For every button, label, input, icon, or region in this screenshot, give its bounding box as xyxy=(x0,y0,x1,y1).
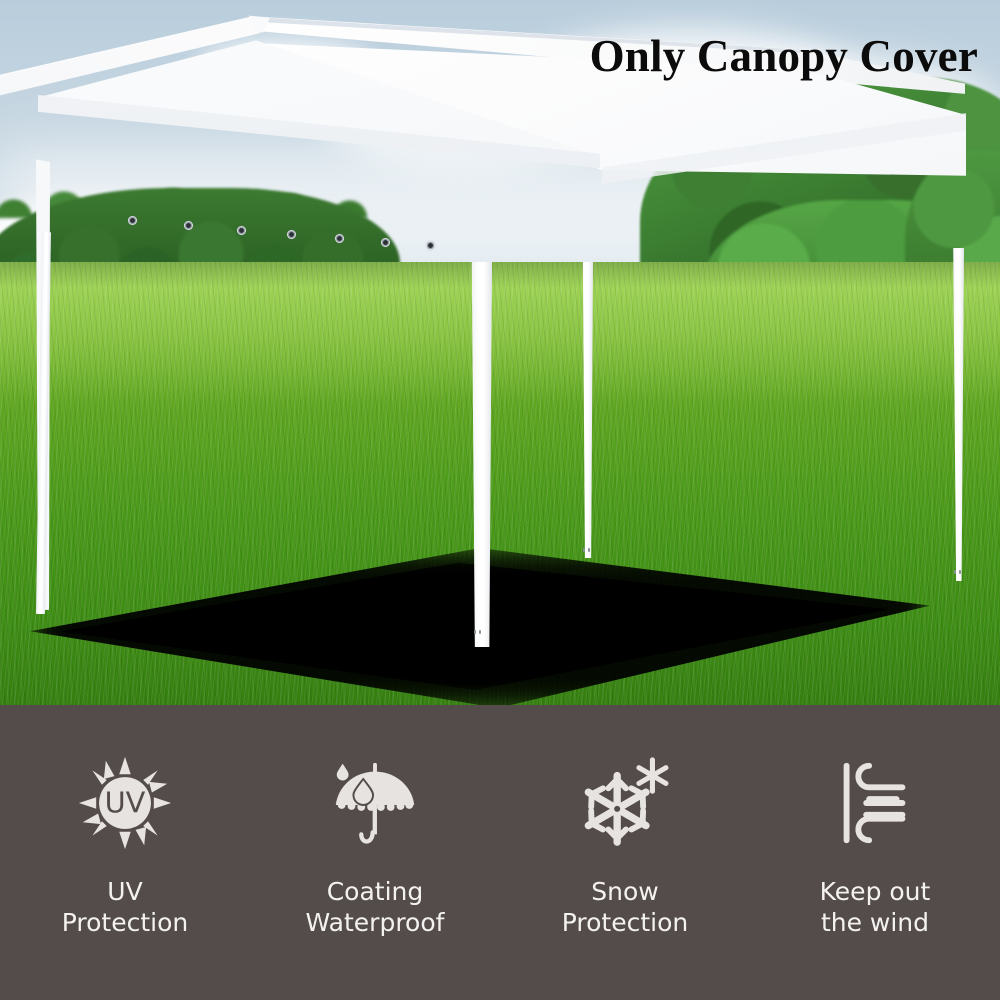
canopy-leg-right-back xyxy=(952,248,964,581)
feature-keep-out-wind: Keep out the wind xyxy=(750,705,1000,1000)
leg-foot-holes xyxy=(954,570,964,574)
feature-label: Keep out the wind xyxy=(820,877,931,938)
feature-label: Coating Waterproof xyxy=(306,877,445,938)
umbrella-drop-icon xyxy=(320,753,430,853)
leg-foot-holes xyxy=(474,630,484,634)
uv-icon-label: UV xyxy=(105,786,146,820)
grommet xyxy=(237,226,246,235)
feature-bar: UV UV Protection xyxy=(0,705,1000,1000)
canopy-structure xyxy=(0,0,1000,705)
feature-label: Snow Protection xyxy=(562,877,688,938)
snowflake-icon xyxy=(570,753,680,853)
product-photo: Only Canopy Cover xyxy=(0,0,1000,705)
uv-sun-icon: UV xyxy=(70,753,180,853)
feature-coating-waterproof: Coating Waterproof xyxy=(250,705,500,1000)
grommet xyxy=(426,241,435,250)
grommet xyxy=(335,234,344,243)
wind-barrier-icon xyxy=(820,753,930,853)
page-title: Only Canopy Cover xyxy=(590,34,978,79)
canopy-leg-center-front xyxy=(470,262,492,647)
feature-snow-protection: Snow Protection xyxy=(500,705,750,1000)
grommet xyxy=(128,216,137,225)
product-marketing-image: Only Canopy Cover xyxy=(0,0,1000,1000)
feature-uv-protection: UV UV Protection xyxy=(0,705,250,1000)
feature-list: UV UV Protection xyxy=(0,705,1000,1000)
canopy-leg-center-back xyxy=(580,262,593,558)
grommet xyxy=(381,238,390,247)
grommet xyxy=(287,230,296,239)
leg-foot-holes xyxy=(583,548,593,552)
feature-label: UV Protection xyxy=(62,877,188,938)
grommet xyxy=(184,221,193,230)
